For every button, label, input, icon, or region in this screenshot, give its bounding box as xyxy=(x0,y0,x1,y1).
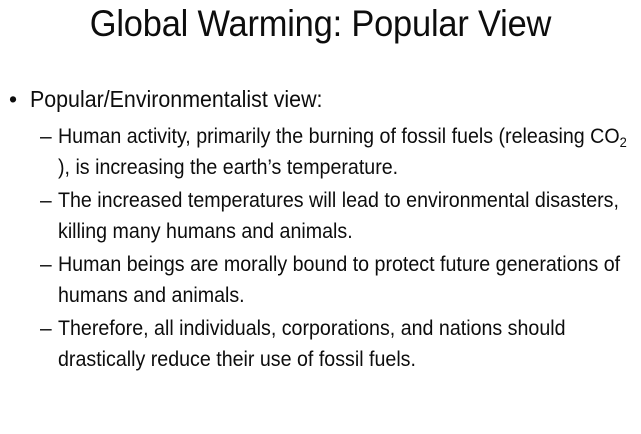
bullet-dash-icon: – xyxy=(40,313,52,344)
bullet-dash-icon: – xyxy=(40,249,52,280)
bullet-item-level1: • Popular/Environmentalist view: xyxy=(0,84,641,115)
sub-bullet-item-conclusion: – Therefore, all individuals, corporatio… xyxy=(0,313,641,375)
bullet-text: Popular/Environmentalist view: xyxy=(30,84,598,115)
bullet-dot-icon: • xyxy=(9,84,17,115)
sub-bullet-text: Human activity, primarily the burning of… xyxy=(58,121,641,183)
sub-bullet-text-part1: Human activity, primarily the burning of… xyxy=(58,125,620,148)
sub-bullet-item-disasters: – The increased temperatures will lead t… xyxy=(0,185,641,247)
sub-bullet-item-morality: – Human beings are morally bound to prot… xyxy=(0,249,641,311)
sub-bullet-text: Therefore, all individuals, corporations… xyxy=(58,313,641,375)
sub-bullet-text: Human beings are morally bound to protec… xyxy=(58,249,641,311)
slide-body: • Popular/Environmentalist view: – Human… xyxy=(0,84,641,377)
presentation-slide: Global Warming: Popular View • Popular/E… xyxy=(0,0,641,434)
slide-title: Global Warming: Popular View xyxy=(22,2,618,46)
sub-bullet-item-co2: – Human activity, primarily the burning … xyxy=(0,121,641,183)
bullet-dash-icon: – xyxy=(40,185,52,216)
bullet-dash-icon: – xyxy=(40,121,52,152)
sub-bullet-text: The increased temperatures will lead to … xyxy=(58,185,641,247)
